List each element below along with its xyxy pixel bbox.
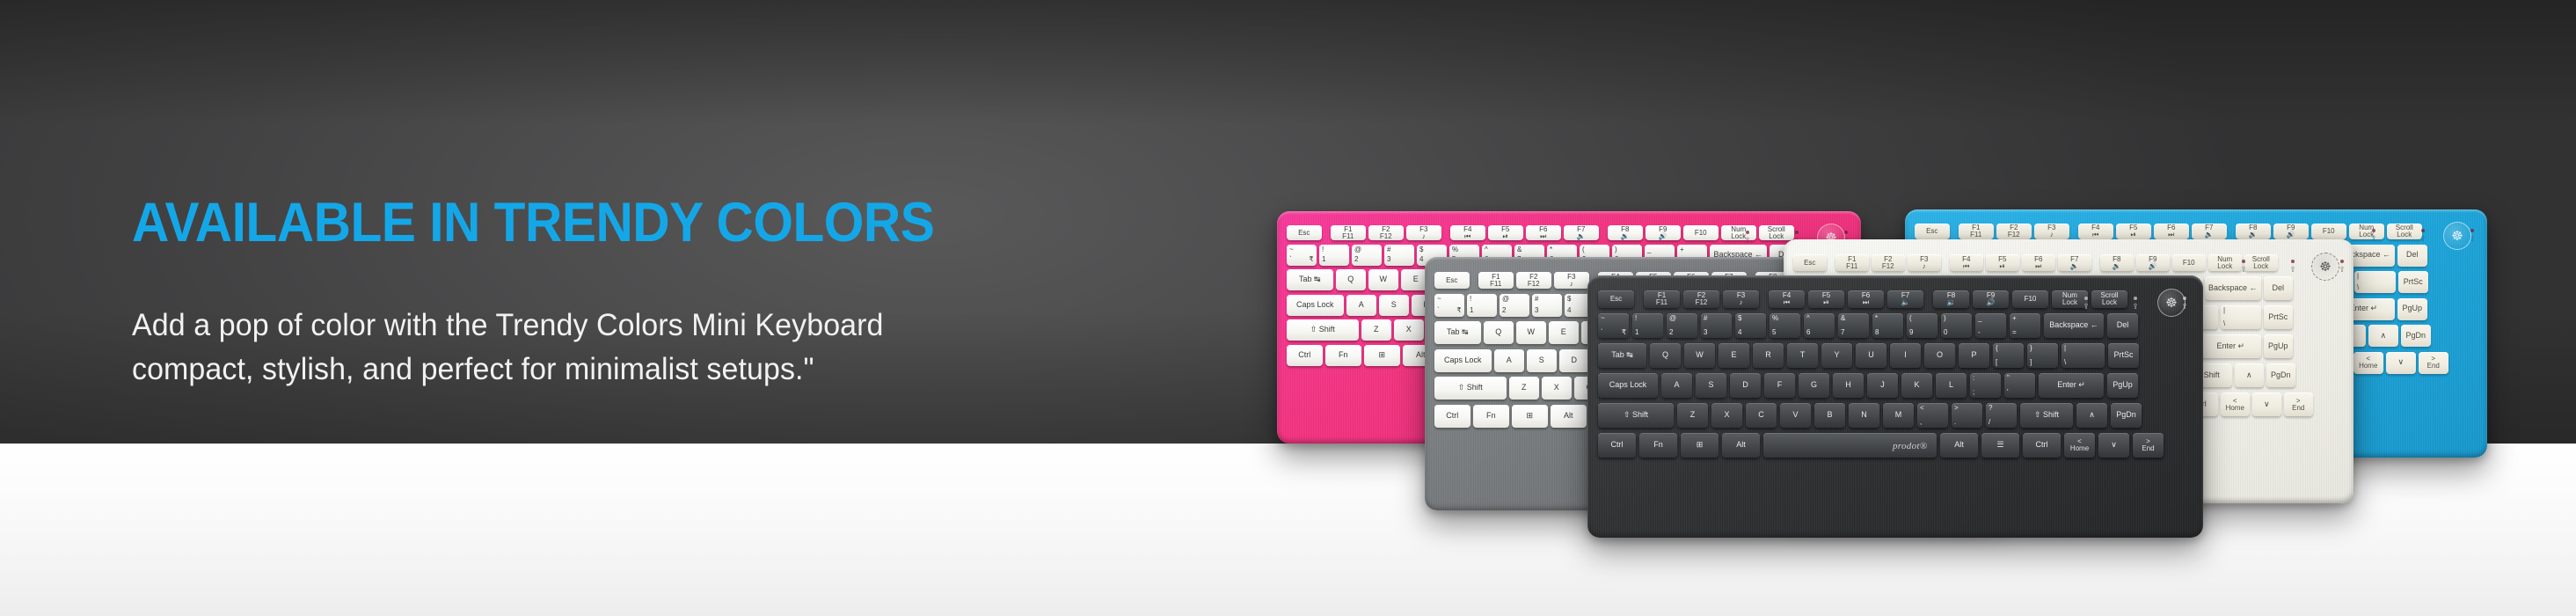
- keycap-legend: ": [2007, 375, 2010, 382]
- keycap[interactable]: F6⏭: [1526, 225, 1561, 240]
- keycap-legend: M: [1895, 411, 1902, 419]
- keycap[interactable]: @2: [1500, 294, 1529, 317]
- keycap[interactable]: PgUp: [2397, 298, 2427, 320]
- keycap[interactable]: F8🔉: [2236, 224, 2271, 239]
- keycap-legend: Y: [1834, 351, 1839, 359]
- keycap[interactable]: F3♪: [1723, 290, 1759, 308]
- keycap-legend: =: [2012, 329, 2017, 336]
- keycap-legend: -: [1978, 329, 1981, 336]
- keycap-legend: 3: [1387, 256, 1390, 263]
- keycap[interactable]: ☰: [1981, 433, 2019, 458]
- keycap[interactable]: *8: [1872, 313, 1903, 338]
- keycap[interactable]: #3: [1384, 245, 1414, 266]
- keycap[interactable]: F10: [2311, 224, 2346, 239]
- keycap[interactable]: {[: [1993, 343, 2024, 368]
- keycap[interactable]: PrtSc: [2398, 271, 2428, 293]
- keycap[interactable]: Alt: [1722, 433, 1760, 458]
- keycap[interactable]: A: [1346, 295, 1376, 316]
- keycap-legend: ): [1615, 246, 1617, 253]
- keycap-legend: ⏭: [1863, 299, 1869, 306]
- keycap-legend: F12: [1528, 281, 1540, 288]
- keycap[interactable]: Q: [1336, 269, 1366, 290]
- keycap[interactable]: |\: [2221, 305, 2261, 329]
- keycap-legend: X: [1724, 411, 1729, 419]
- black-keyboard: EscF1F11F2F12F3♪F4⏮F5⏯F6⏭F7🔈F8🔉F9🔊F10Num…: [1587, 275, 2203, 538]
- keycap[interactable]: ~`₹: [1434, 294, 1464, 317]
- keycap[interactable]: $4: [1735, 313, 1766, 338]
- lock-icon: ⇪: [2419, 235, 2426, 243]
- keycap[interactable]: L: [1936, 373, 1967, 398]
- keycap[interactable]: )0: [1941, 313, 1972, 338]
- keycap[interactable]: #3: [1701, 313, 1732, 338]
- keycap-legend: }: [2030, 345, 2032, 352]
- lock-icon: ⇪: [2240, 266, 2247, 274]
- keycap[interactable]: %5: [1770, 313, 1800, 338]
- keycap[interactable]: F10: [2012, 290, 2048, 308]
- keycap[interactable]: F1F11: [1644, 290, 1680, 308]
- lock-icon: ⇪: [2289, 266, 2296, 274]
- keycap[interactable]: >.: [1952, 403, 1982, 428]
- keycap[interactable]: ⊞: [1681, 433, 1719, 458]
- keycap[interactable]: >End: [2133, 433, 2164, 458]
- keycap[interactable]: PrtSc: [2108, 343, 2139, 368]
- keycap[interactable]: &7: [1838, 313, 1869, 338]
- keycap[interactable]: S: [1379, 295, 1409, 316]
- keycap-legend: 1: [1470, 307, 1473, 314]
- trendy-colors-banner: AVAILABLE IN TRENDY COLORS Add a pop of …: [0, 0, 2576, 616]
- keycap[interactable]: D: [1730, 373, 1761, 398]
- keycap-legend: F12: [2008, 231, 2020, 238]
- keycap-legend: `: [1437, 307, 1440, 314]
- keycap-legend: Z: [1374, 326, 1379, 334]
- keycap-legend: |: [2223, 307, 2225, 314]
- keycap-legend: S: [1539, 356, 1544, 364]
- keycap-legend: 🔈: [1577, 233, 1586, 240]
- keycap[interactable]: F5⏯: [2116, 224, 2151, 239]
- keycap-legend: 🔈: [2070, 263, 2079, 270]
- keycap-legend: Enter ↵: [2216, 342, 2244, 350]
- keycap[interactable]: Del: [2107, 313, 2138, 338]
- keycap[interactable]: PrtSc: [2264, 305, 2293, 329]
- keycap-legend: 1: [1322, 256, 1325, 263]
- keycap[interactable]: V: [1780, 403, 1811, 428]
- keycap-legend: ⏮: [2092, 231, 2098, 238]
- keycap-legend: *: [1550, 246, 1552, 253]
- keycap[interactable]: Esc: [1598, 290, 1634, 308]
- keycap-legend: A: [1507, 356, 1512, 364]
- keycap-legend: F10: [1695, 230, 1707, 237]
- keycap[interactable]: F5⏯: [1808, 290, 1844, 308]
- keycap[interactable]: <Home: [2064, 433, 2095, 458]
- keycap[interactable]: Enter ↵: [2039, 373, 2104, 398]
- keycap[interactable]: W: [1516, 321, 1546, 344]
- keycap[interactable]: J: [1867, 373, 1898, 398]
- keycap[interactable]: F2F12: [1872, 254, 1905, 271]
- keycap[interactable]: F1F11: [1835, 254, 1869, 271]
- keycap[interactable]: F3♪: [2034, 224, 2069, 239]
- keycap-legend: Home: [2070, 445, 2089, 452]
- keycap[interactable]: F6⏭: [1848, 290, 1884, 308]
- keycap[interactable]: Ctrl: [1287, 345, 1323, 366]
- keycap-legend: Home: [2226, 405, 2244, 412]
- keycap[interactable]: Q: [1650, 343, 1681, 368]
- keycap[interactable]: Fn: [1639, 433, 1677, 458]
- keycap[interactable]: ∧: [2235, 363, 2264, 387]
- keycap-legend: ]: [2030, 359, 2032, 366]
- keycap[interactable]: W: [1684, 343, 1715, 368]
- keycap[interactable]: Esc: [1793, 254, 1827, 271]
- keycap[interactable]: I: [1890, 343, 1921, 368]
- keycap[interactable]: ⇧ Shift: [1434, 377, 1507, 400]
- keycap[interactable]: ~`₹: [1598, 313, 1629, 338]
- keycap[interactable]: F: [1764, 373, 1795, 398]
- keycap-legend: +: [2012, 315, 2017, 322]
- keycap[interactable]: PgDn: [2111, 403, 2142, 428]
- keycap-legend: Home: [2359, 363, 2377, 370]
- keycap[interactable]: <Home: [2353, 352, 2383, 374]
- keycap-legend: 🔉: [2249, 231, 2258, 238]
- keycap[interactable]: ⊞: [1364, 345, 1400, 366]
- keycap[interactable]: Backspace ←: [2205, 276, 2261, 300]
- keycap[interactable]: Alt: [1940, 433, 1978, 458]
- keycap-legend: ,: [1920, 419, 1922, 426]
- function-row: EscF1F11F2F12F3♪F4⏮F5⏯F6⏭F7🔈F8🔉F9🔊F10Num…: [1915, 224, 2422, 239]
- keycap[interactable]: H: [1833, 373, 1864, 398]
- keycap-legend: ⇧ Shift: [1458, 384, 1483, 392]
- keycap[interactable]: E: [1549, 321, 1579, 344]
- keycap[interactable]: K: [1901, 373, 1932, 398]
- keycap-legend: #: [1704, 315, 1707, 322]
- keycap-legend: ♪: [1923, 263, 1926, 270]
- num-lock-led: ⇪: [2076, 297, 2096, 311]
- keycap-legend: P: [1971, 351, 1976, 359]
- keycap[interactable]: F4⏮: [1769, 290, 1805, 308]
- keycap-legend: `: [1289, 256, 1292, 263]
- keycap-legend: W: [1528, 328, 1536, 336]
- keycap[interactable]: Caps Lock: [1434, 349, 1492, 372]
- keycap[interactable]: @2: [1667, 313, 1697, 338]
- keycap-legend: 🔊: [2149, 263, 2157, 270]
- keycap[interactable]: N: [1849, 403, 1879, 428]
- keycap[interactable]: F4⏮: [1450, 225, 1485, 240]
- keycap[interactable]: ?/: [1986, 403, 2017, 428]
- keycap[interactable]: <Home: [2221, 392, 2250, 416]
- keycap-legend: ⏯: [1823, 299, 1828, 306]
- keycap[interactable]: Esc: [1434, 272, 1470, 289]
- keycap[interactable]: Enter ↵: [2200, 334, 2261, 358]
- keycap-legend: ∨: [2264, 400, 2270, 408]
- keycap-legend: F11: [1342, 233, 1354, 240]
- keycap[interactable]: F10: [1683, 225, 1719, 240]
- keycap[interactable]: Caps Lock: [1598, 373, 1658, 398]
- keycap-legend: &: [1841, 315, 1845, 322]
- keycap-legend: F10: [2323, 228, 2335, 235]
- keycap[interactable]: Alt: [1551, 405, 1587, 428]
- keycap[interactable]: ∨: [2098, 433, 2129, 458]
- keycap[interactable]: Tab ↹: [1287, 269, 1333, 290]
- keycap[interactable]: Tab ↹: [1598, 343, 1646, 368]
- brand-logo-icon: ☸: [2443, 222, 2471, 250]
- keycap[interactable]: F7🔈: [1887, 290, 1923, 308]
- keycap[interactable]: Caps Lock: [1287, 295, 1344, 316]
- keycap[interactable]: X: [1542, 377, 1572, 400]
- keycap[interactable]: F5⏯: [1986, 254, 2019, 271]
- keycap[interactable]: ^6: [1804, 313, 1835, 338]
- keycap-legend: #: [1535, 296, 1538, 303]
- keycap-legend: @: [1502, 296, 1509, 303]
- keycap[interactable]: F6⏭: [2022, 254, 2055, 271]
- led-dot: [2340, 260, 2344, 263]
- keycap[interactable]: F4⏮: [2078, 224, 2113, 239]
- keycap-legend: 2: [1669, 329, 1673, 336]
- keycap-legend: Q: [1495, 328, 1501, 336]
- keycap-legend: PrtSc: [2113, 351, 2133, 359]
- led-dot: [2242, 260, 2245, 263]
- keycap[interactable]: |\: [2062, 343, 2105, 368]
- keycap[interactable]: U: [1856, 343, 1886, 368]
- keycap[interactable]: F2F12: [1516, 272, 1551, 289]
- keycap[interactable]: Fn: [1325, 345, 1361, 366]
- keycap[interactable]: F2F12: [1683, 290, 1719, 308]
- keycap[interactable]: A: [1661, 373, 1692, 398]
- keycap[interactable]: Z: [1361, 319, 1391, 341]
- keycap[interactable]: Fn: [1473, 405, 1509, 428]
- keycap[interactable]: Del: [2264, 276, 2293, 300]
- keycap-legend: #: [1387, 246, 1390, 253]
- keycap-legend: Tab ↹: [1299, 275, 1321, 283]
- keycap[interactable]: Y: [1821, 343, 1852, 368]
- keycap-legend: Z: [1690, 411, 1696, 419]
- keycap-legend: <: [1920, 405, 1924, 412]
- keycap[interactable]: !1: [1467, 294, 1497, 317]
- keycap-legend: _: [1978, 315, 1981, 322]
- keycap[interactable]: T: [1787, 343, 1818, 368]
- keycap-legend: Lock: [2062, 299, 2077, 306]
- bottom-row: CtrlFn⊞AltAlt☰Ctrl<Home∨>End: [1598, 433, 2164, 458]
- keycap-legend: 3: [1535, 307, 1538, 314]
- keycap[interactable]: F8🔉: [1608, 225, 1643, 240]
- keycap-legend: ⇧ Shift: [2034, 411, 2059, 419]
- keycap-legend: Esc: [1298, 230, 1310, 237]
- keycap[interactable]: |\: [2354, 271, 2396, 293]
- keycap[interactable]: ⊞: [1512, 405, 1548, 428]
- keycap[interactable]: ⇧ Shift: [2020, 403, 2073, 428]
- keycap[interactable]: F10: [2172, 254, 2206, 271]
- keycap-legend: Backspace ←: [2208, 284, 2258, 292]
- keycap-legend: A: [1674, 381, 1679, 389]
- keycap[interactable]: F3♪: [1406, 225, 1441, 240]
- keycap[interactable]: X: [1711, 403, 1742, 428]
- keycap-legend: \: [2357, 284, 2359, 291]
- led-dot: [1746, 231, 1749, 234]
- keycap-legend: @: [1669, 315, 1676, 322]
- keycap-legend: 2: [1354, 256, 1358, 263]
- keycap[interactable]: S: [1527, 349, 1557, 372]
- lock-icon: ⇪: [1744, 237, 1751, 245]
- keycap[interactable]: Z: [1509, 377, 1539, 400]
- keycap-legend: 🔈: [2205, 231, 2214, 238]
- keycap[interactable]: +=: [2010, 313, 2040, 338]
- keycap[interactable]: @2: [1352, 245, 1382, 266]
- keycap[interactable]: G: [1799, 373, 1829, 398]
- keycap[interactable]: F8🔉: [2100, 254, 2134, 271]
- keycap-legend: S: [1708, 381, 1713, 389]
- keycap[interactable]: ∨: [2386, 352, 2416, 374]
- keycap-legend: F12: [1696, 299, 1708, 306]
- keycap-legend: Ctrl: [1611, 441, 1624, 449]
- keycap-legend: ∧: [2380, 332, 2386, 340]
- keycap-legend: %: [1452, 246, 1458, 253]
- keycap-legend: ₹: [1309, 256, 1313, 263]
- keycap[interactable]: :;: [1970, 373, 2001, 398]
- keycap[interactable]: Esc: [1915, 224, 1950, 239]
- keycap[interactable]: }]: [2027, 343, 2058, 368]
- keycap[interactable]: ⇧ Shift: [1287, 319, 1359, 341]
- keycap[interactable]: _-: [1975, 313, 2006, 338]
- keycap[interactable]: W: [1368, 269, 1398, 290]
- keycap[interactable]: !1: [1632, 313, 1663, 338]
- keycap[interactable]: R: [1753, 343, 1784, 368]
- keycap[interactable]: Backspace ←: [2044, 313, 2104, 338]
- keycap[interactable]: E: [1719, 343, 1749, 368]
- keycap[interactable]: F6⏭: [2154, 224, 2189, 239]
- keycap-legend: Fn: [1486, 412, 1496, 420]
- keycap[interactable]: Ctrl: [2023, 433, 2061, 458]
- keycap-legend: Tab ↹: [1447, 328, 1469, 336]
- num-lock-led: ⇪: [2234, 260, 2253, 274]
- keycap[interactable]: F7🔈: [2192, 224, 2227, 239]
- keycap[interactable]: F1F11: [1959, 224, 1994, 239]
- keycap-legend: 🔈: [1901, 299, 1910, 306]
- keycap[interactable]: >End: [2284, 392, 2313, 416]
- keycap[interactable]: Q: [1484, 321, 1514, 344]
- keycap-legend: 4: [1419, 256, 1423, 263]
- keycap-legend: Del: [2272, 284, 2284, 292]
- keycap-legend: ⏮: [1963, 263, 1969, 270]
- keycap-legend: PgDn: [2116, 411, 2136, 419]
- keycap[interactable]: F3♪: [1554, 272, 1589, 289]
- keycap[interactable]: F2F12: [1996, 224, 2032, 239]
- keycap-legend: ♪: [1740, 299, 1743, 306]
- home-row: Caps LockASDFGHJKL:;"'Enter ↵PgUp: [1598, 373, 2138, 398]
- keycap-legend: H: [1845, 381, 1851, 389]
- keycap[interactable]: F4⏮: [1950, 254, 1983, 271]
- keycap-legend: Alt: [1564, 412, 1573, 420]
- keycap-legend: ⏮: [1784, 299, 1790, 306]
- keycap-legend: F11: [1846, 263, 1857, 270]
- keycap-legend: !: [1470, 296, 1471, 303]
- keycap[interactable]: ~`₹: [1287, 245, 1317, 266]
- keycap-legend: ^: [1806, 315, 1810, 322]
- led-dot: [1844, 231, 1848, 234]
- keycap-legend: Del: [2117, 321, 2129, 329]
- keycap[interactable]: PgUp: [2264, 334, 2293, 358]
- keycap[interactable]: (9: [1907, 313, 1937, 338]
- keycap[interactable]: O: [1924, 343, 1955, 368]
- keycap[interactable]: "': [2004, 373, 2035, 398]
- keycap[interactable]: Esc: [1287, 225, 1322, 240]
- keycap-legend: /: [1989, 419, 1990, 426]
- keycap[interactable]: <,: [1917, 403, 1948, 428]
- keycap[interactable]: !1: [1319, 245, 1349, 266]
- keycap[interactable]: >End: [2419, 352, 2448, 374]
- keycap-legend: ~: [1289, 246, 1294, 253]
- keycap-legend: ☰: [1996, 441, 2003, 449]
- keycap-legend: X: [1554, 384, 1559, 392]
- keycap-legend: ': [2007, 389, 2009, 396]
- keycap[interactable]: PgUp: [2107, 373, 2138, 398]
- caps-lock-led: ⇪: [2283, 260, 2302, 274]
- keycap[interactable]: ∧: [2368, 325, 2398, 347]
- keycap-legend: Ctrl: [2036, 441, 2048, 449]
- keycap[interactable]: X: [1394, 319, 1424, 341]
- keycap-legend: ⏭: [2168, 231, 2174, 238]
- keycap-legend: +: [1680, 246, 1684, 253]
- keycap[interactable]: F9🔊: [1646, 225, 1681, 240]
- keycap[interactable]: ∧: [2076, 403, 2107, 428]
- keycap[interactable]: ∨: [2252, 392, 2281, 416]
- keycap-legend: S: [1391, 301, 1397, 309]
- keycap-legend: U: [1868, 351, 1874, 359]
- keycap[interactable]: F3♪: [1908, 254, 1941, 271]
- keycap-legend: Esc: [1804, 260, 1815, 267]
- keycap[interactable]: F9🔊: [2136, 254, 2170, 271]
- keycap-legend: End: [2142, 445, 2154, 452]
- keycap[interactable]: C: [1746, 403, 1777, 428]
- keycap[interactable]: F9🔊: [2273, 224, 2309, 239]
- keycap[interactable]: F2F12: [1368, 225, 1404, 240]
- keycap[interactable]: F7🔈: [2058, 254, 2091, 271]
- keycap[interactable]: A: [1494, 349, 1524, 372]
- led-dot: [1795, 231, 1799, 234]
- keycap-legend: Alt: [1416, 351, 1426, 359]
- keycap[interactable]: F1F11: [1478, 272, 1514, 289]
- keycap-legend: End: [2292, 405, 2304, 412]
- keycap-legend: $: [1419, 246, 1423, 253]
- keycap[interactable]: ⇧ Shift: [1598, 403, 1674, 428]
- keycap[interactable]: F7🔈: [1564, 225, 1599, 240]
- keycap[interactable]: Z: [1677, 403, 1708, 428]
- keycap-legend: E: [1561, 328, 1566, 336]
- keycap[interactable]: B: [1814, 403, 1845, 428]
- keycap-legend: J: [1880, 381, 1885, 389]
- keycap[interactable]: F9🔊: [1973, 290, 2009, 308]
- keycap[interactable]: M: [1883, 403, 1914, 428]
- keycap-legend: C: [1758, 411, 1764, 419]
- keycap-legend: ∧: [2246, 371, 2252, 379]
- keycap[interactable]: F8🔉: [1933, 290, 1969, 308]
- keycap[interactable]: D: [1559, 349, 1589, 372]
- keycap[interactable]: F1F11: [1331, 225, 1366, 240]
- keycap[interactable]: P: [1959, 343, 1989, 368]
- keycap[interactable]: Ctrl: [1434, 405, 1470, 428]
- keycap[interactable]: PgDn: [2266, 363, 2295, 387]
- keycap-legend: E: [1413, 275, 1419, 283]
- keycap[interactable]: F5⏯: [1488, 225, 1523, 240]
- number-row: ~`₹!1@2#3$4%5^6&7*8(9)0_-+=Backspace ←De…: [1598, 313, 2138, 338]
- keycap[interactable]: Tab ↹: [1434, 321, 1481, 344]
- keycap-legend: Esc: [1446, 277, 1457, 284]
- keycap[interactable]: PgDn: [2401, 325, 2431, 347]
- keycap[interactable]: #3: [1532, 294, 1562, 317]
- keycap[interactable]: Del: [2397, 245, 2427, 267]
- keycap-legend: 🔊: [1659, 233, 1667, 240]
- keycap-legend: .: [1954, 419, 1956, 426]
- keycap[interactable]: S: [1696, 373, 1726, 398]
- keycap-legend: ∨: [2397, 358, 2404, 366]
- keycap-legend: ⏮: [1464, 233, 1470, 240]
- keycap[interactable]: Ctrl: [1598, 433, 1636, 458]
